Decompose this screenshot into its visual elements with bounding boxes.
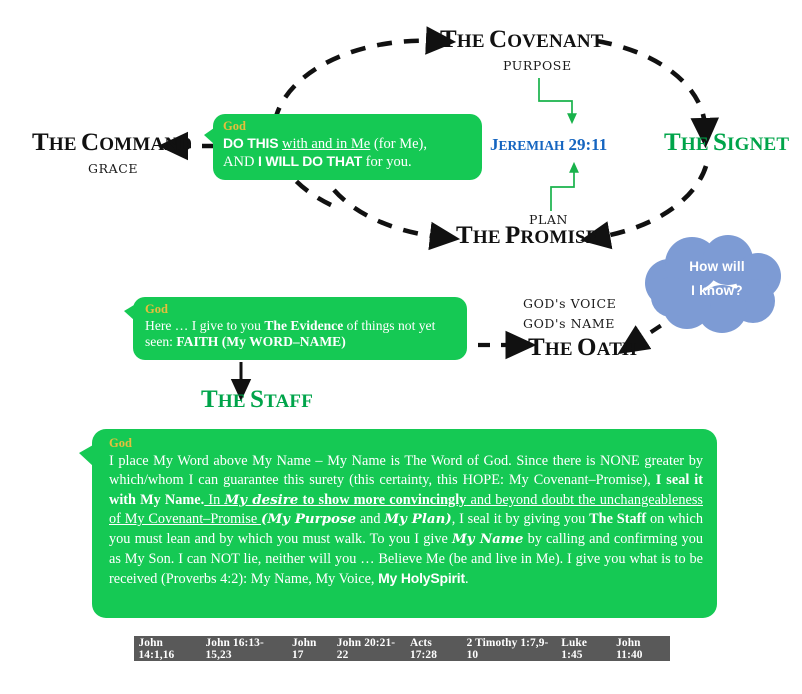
bubble-seal-text: I place My Word above My Name – My Name … bbox=[109, 452, 703, 590]
speech-bubble-command[interactable]: God DO THIS with and in Me (for Me), AND… bbox=[213, 114, 482, 180]
bubble-tail bbox=[204, 128, 214, 144]
scripture-jeremiah[interactable]: JEREMIAH 29:11 bbox=[490, 136, 607, 154]
speaker-label: God bbox=[109, 437, 703, 451]
node-the-covenant[interactable]: THE COVENANT bbox=[440, 27, 604, 52]
reference-item[interactable]: 2 Timothy 1:7,9-10 bbox=[462, 637, 557, 661]
reference-item[interactable]: Luke 1:45 bbox=[557, 637, 612, 661]
seg-and: and bbox=[356, 511, 384, 527]
diagram-canvas: How will I know? THE COMMAND GRACE THE C… bbox=[0, 0, 802, 694]
seg-the-staff: The Staff bbox=[589, 511, 646, 527]
node-the-signet[interactable]: THE SIGNET bbox=[664, 130, 789, 155]
seg-my-purpose: (My Purpose bbox=[261, 511, 356, 527]
seg-for-me: (for Me), bbox=[374, 136, 427, 152]
seg-my-desire: My desire bbox=[224, 492, 298, 508]
node-the-promise[interactable]: THE PROMISE bbox=[456, 223, 599, 248]
arc-signet-to-promise bbox=[600, 166, 706, 237]
bubble-tail bbox=[79, 445, 93, 466]
arrow-plan bbox=[551, 166, 574, 211]
reference-item[interactable]: John 16:13-15,23 bbox=[201, 637, 288, 661]
arc-covenant-to-signet bbox=[597, 41, 705, 128]
seg-show-more-convincingly: to show more convincingly bbox=[298, 492, 466, 508]
reference-item[interactable]: John 17 bbox=[288, 637, 333, 661]
node-the-oath[interactable]: THE OATH bbox=[528, 335, 637, 360]
scripture-reference-bar: John 14:1,16 John 16:13-15,23 John 17 Jo… bbox=[134, 636, 670, 661]
speaker-label: God bbox=[223, 120, 473, 134]
caption-grace: GRACE bbox=[88, 161, 138, 177]
seg-in: In bbox=[204, 492, 224, 508]
speaker-label: God bbox=[145, 303, 458, 317]
seg-my-plan: My Plan) bbox=[384, 511, 451, 527]
seg-period: . bbox=[465, 571, 469, 587]
seg-place-my-word: I place My Word above My Name – My Name … bbox=[109, 453, 703, 489]
reference-item[interactable]: John 11:40 bbox=[612, 637, 670, 661]
node-the-staff[interactable]: THE STAFF bbox=[201, 387, 313, 412]
cloud-text: How will I know? bbox=[665, 255, 769, 302]
cloud-line-2: I know? bbox=[665, 279, 769, 303]
seg-the-evidence: The Evidence bbox=[264, 318, 343, 333]
node-the-command[interactable]: THE COMMAND bbox=[32, 130, 192, 155]
seg-and: AND bbox=[223, 154, 254, 170]
reference-item[interactable]: John 14:1,16 bbox=[134, 637, 201, 661]
speech-bubble-evidence[interactable]: God Here … I give to you The Evidence of… bbox=[133, 297, 467, 360]
cloud-line-1: How will bbox=[665, 255, 769, 279]
caption-plan: PLAN bbox=[529, 212, 568, 228]
caption-purpose: PURPOSE bbox=[503, 58, 572, 74]
seg-my-name: My Name bbox=[452, 531, 523, 547]
reference-item[interactable]: John 20:21-22 bbox=[332, 637, 405, 661]
caption-gods-name: GOD's NAME bbox=[523, 316, 615, 332]
seg-for-you: for you. bbox=[366, 154, 412, 170]
seg-here-i-give: Here … I give to you bbox=[145, 318, 261, 333]
seg-with-and-in-me: with and in Me bbox=[282, 136, 370, 152]
seg-i-will-do-that: I WILL DO THAT bbox=[258, 153, 362, 169]
seg-do-this: DO THIS bbox=[223, 135, 278, 151]
arrow-purpose bbox=[539, 78, 572, 120]
seg-my-holyspirit: My HolySpirit bbox=[378, 570, 465, 586]
arc-promise bbox=[334, 190, 440, 237]
bubble-command-text: DO THIS with and in Me (for Me), AND I W… bbox=[223, 135, 473, 172]
seg-faith-word-name: FAITH (My WORD–NAME) bbox=[176, 334, 345, 349]
bubble-tail bbox=[124, 305, 134, 320]
speech-bubble-seal[interactable]: God I place My Word above My Name – My N… bbox=[92, 429, 717, 618]
bubble-evidence-text: Here … I give to you The Evidence of thi… bbox=[145, 318, 458, 351]
seg-seal-by-giving: , I seal it by giving you bbox=[452, 511, 589, 527]
reference-item[interactable]: Acts 17:28 bbox=[405, 637, 462, 661]
caption-gods-voice: GOD's VOICE bbox=[523, 296, 616, 312]
thought-cloud: How will I know? bbox=[639, 233, 787, 337]
